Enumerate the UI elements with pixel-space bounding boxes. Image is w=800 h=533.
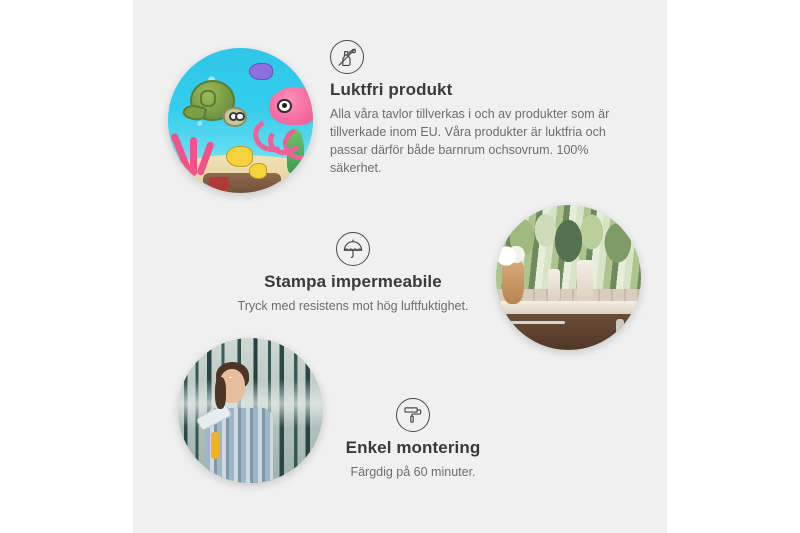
octopus [252, 87, 313, 151]
feature-block-odourless: Luktfri produkt Alla våra tavlor tillver… [330, 40, 630, 178]
feature-infographic: Luktfri produkt Alla våra tavlor tillver… [0, 0, 800, 533]
coral [174, 132, 218, 176]
yellow-fish-small [249, 163, 267, 178]
roller-handle [211, 432, 218, 459]
feature-title: Luktfri produkt [330, 80, 630, 100]
tumbler [548, 269, 560, 301]
feature-title: Enkel montering [268, 438, 558, 458]
shipwreck [203, 173, 281, 193]
purple-fish [249, 63, 273, 81]
hair-side [215, 377, 226, 409]
no-fragrance-icon [330, 40, 364, 74]
wood-vanity-cabinet [496, 314, 641, 350]
feature-block-waterproof: Stampa impermeabile Tryck med resistens … [183, 232, 523, 315]
feature-block-easy-mounting: Enkel montering Färgdig på 60 minuter. [268, 398, 558, 481]
yellow-fish-large [226, 146, 253, 167]
turtle [185, 80, 243, 128]
feature-body: Alla våra tavlor tillverkas i och av pro… [330, 105, 630, 178]
umbrella-icon [336, 232, 370, 266]
feature-body: Tryck med resistens mot hög luftfuktighe… [183, 297, 523, 315]
soap-dispenser [577, 260, 593, 301]
feature-title: Stampa impermeabile [183, 272, 523, 292]
feature-body: Färgdig på 60 minuter. [268, 463, 558, 481]
underwater-cartoon-photo [168, 48, 313, 193]
paint-roller-icon [396, 398, 430, 432]
